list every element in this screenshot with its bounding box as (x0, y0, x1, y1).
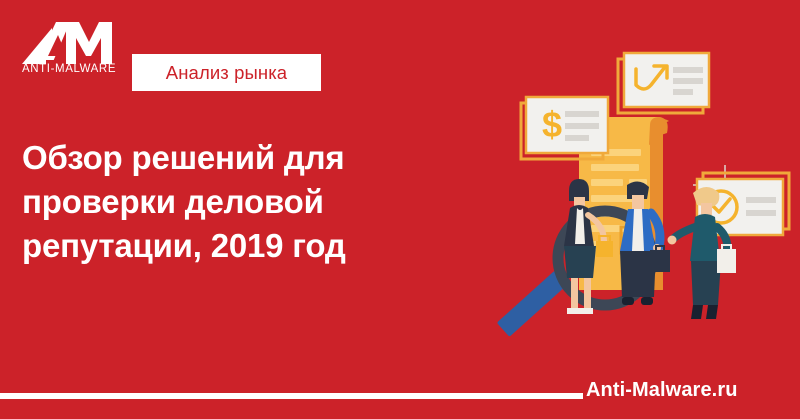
growth-card (618, 53, 709, 113)
logo[interactable]: ANTI-MALWARE (22, 22, 114, 78)
logo-wordmark: ANTI-MALWARE (22, 62, 118, 76)
dollar-icon: $ (542, 104, 562, 145)
category-badge[interactable]: Анализ рынка (132, 54, 321, 91)
page-title: Обзор решений для проверки деловой репут… (22, 136, 442, 268)
dollar-card: $ (521, 97, 608, 159)
am-logo-icon (22, 22, 114, 64)
hero-illustration: $ (495, 45, 800, 345)
category-badge-label: Анализ рынка (166, 62, 287, 84)
footer-brand[interactable]: Anti-Malware.ru (586, 379, 738, 402)
banner-root: ANTI-MALWARE Анализ рынка Обзор решений … (0, 0, 800, 419)
footer-divider (0, 393, 583, 399)
